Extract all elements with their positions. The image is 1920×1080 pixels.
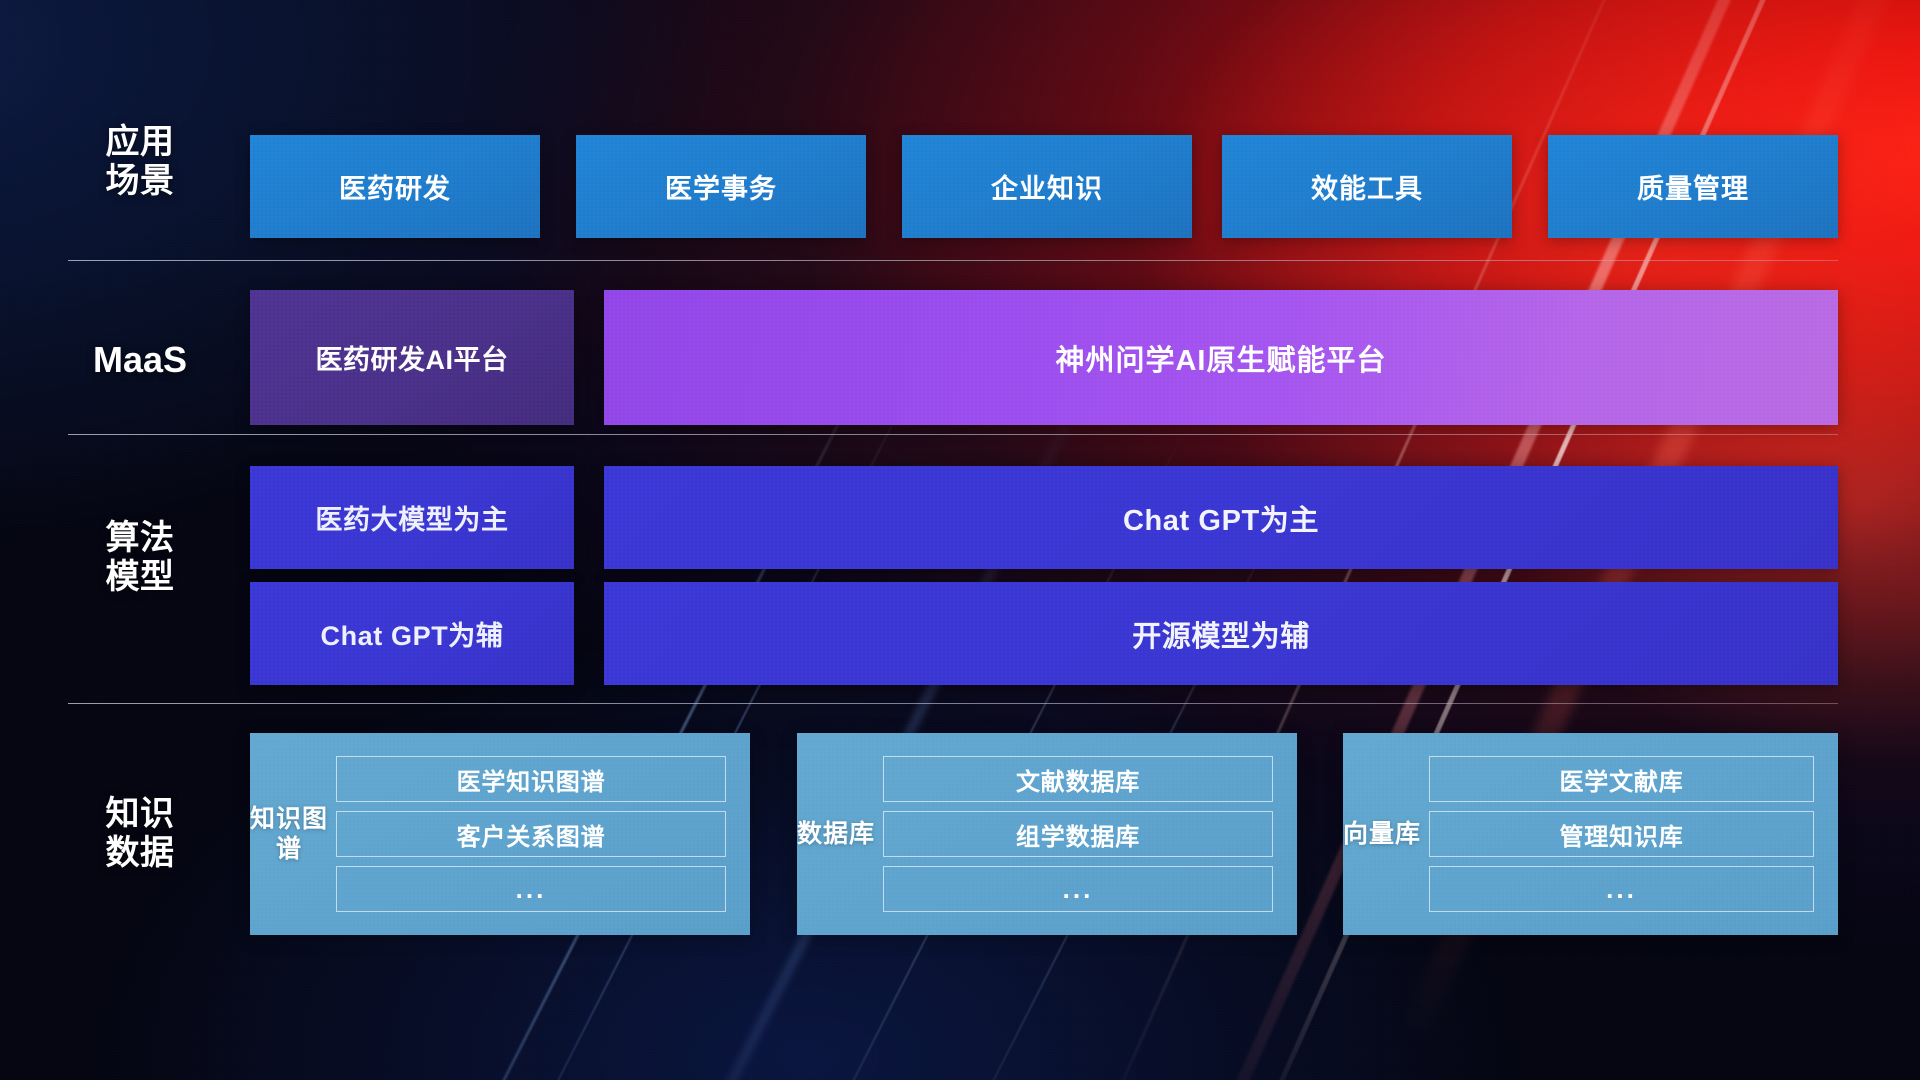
app-card-0[interactable]: 医药研发 bbox=[250, 135, 540, 238]
row-label-algorithm: 算法 模型 bbox=[60, 519, 220, 598]
knowledge-item[interactable]: 医学知识图谱 bbox=[336, 756, 726, 802]
knowledge-block-database[interactable]: 数据库 文献数据库 组学数据库 ... bbox=[797, 733, 1297, 935]
app-card-label: 效能工具 bbox=[1311, 167, 1423, 206]
maas-platform-label: 医药研发AI平台 bbox=[316, 338, 509, 377]
algorithm-card-label: Chat GPT为辅 bbox=[320, 614, 503, 653]
algorithm-card-label: Chat GPT为主 bbox=[1123, 497, 1319, 539]
algorithm-card-primary-general[interactable]: Chat GPT为主 bbox=[604, 466, 1838, 569]
knowledge-block-title: 数据库 bbox=[797, 819, 875, 850]
row-label-maas: MaaS bbox=[60, 339, 220, 381]
knowledge-item-more[interactable]: ... bbox=[1429, 866, 1814, 912]
app-card-label: 企业知识 bbox=[991, 167, 1103, 206]
app-card-1[interactable]: 医学事务 bbox=[576, 135, 866, 238]
knowledge-item-list: 文献数据库 组学数据库 ... bbox=[875, 744, 1297, 924]
knowledge-item[interactable]: 管理知识库 bbox=[1429, 811, 1814, 857]
knowledge-item[interactable]: 组学数据库 bbox=[883, 811, 1273, 857]
divider-algorithm-knowledge bbox=[68, 703, 1838, 704]
app-card-label: 医药研发 bbox=[339, 167, 451, 206]
row-label-knowledge: 知识 数据 bbox=[60, 795, 220, 874]
knowledge-item-list: 医学知识图谱 客户关系图谱 ... bbox=[328, 744, 750, 924]
knowledge-item[interactable]: 文献数据库 bbox=[883, 756, 1273, 802]
knowledge-item-more[interactable]: ... bbox=[336, 866, 726, 912]
knowledge-block-graph[interactable]: 知识图谱 医学知识图谱 客户关系图谱 ... bbox=[250, 733, 750, 935]
app-card-4[interactable]: 质量管理 bbox=[1548, 135, 1838, 238]
knowledge-item[interactable]: 医学文献库 bbox=[1429, 756, 1814, 802]
row-label-application: 应用 场景 bbox=[60, 123, 220, 202]
maas-platform-card[interactable]: 医药研发AI平台 bbox=[250, 290, 574, 425]
app-card-label: 医学事务 bbox=[665, 167, 777, 206]
algorithm-card-label: 医药大模型为主 bbox=[315, 498, 508, 537]
algorithm-card-secondary-general[interactable]: 开源模型为辅 bbox=[604, 582, 1838, 685]
architecture-diagram: 应用 场景 医药研发 医学事务 企业知识 效能工具 质量管理 MaaS 医药研发… bbox=[0, 0, 1920, 1080]
divider-maas-algorithm bbox=[68, 434, 1838, 435]
app-card-2[interactable]: 企业知识 bbox=[902, 135, 1192, 238]
app-card-label: 质量管理 bbox=[1637, 167, 1749, 206]
knowledge-item-list: 医学文献库 管理知识库 ... bbox=[1421, 744, 1838, 924]
app-card-3[interactable]: 效能工具 bbox=[1222, 135, 1512, 238]
divider-application-maas bbox=[68, 260, 1838, 261]
knowledge-item[interactable]: 客户关系图谱 bbox=[336, 811, 726, 857]
knowledge-item-more[interactable]: ... bbox=[883, 866, 1273, 912]
knowledge-block-title: 知识图谱 bbox=[250, 804, 328, 865]
maas-enablement-card[interactable]: 神州问学AI原生赋能平台 bbox=[604, 290, 1838, 425]
algorithm-card-label: 开源模型为辅 bbox=[1132, 613, 1310, 655]
knowledge-block-title: 向量库 bbox=[1343, 819, 1421, 850]
algorithm-card-secondary-domain[interactable]: Chat GPT为辅 bbox=[250, 582, 574, 685]
algorithm-card-primary-domain[interactable]: 医药大模型为主 bbox=[250, 466, 574, 569]
maas-enablement-label: 神州问学AI原生赋能平台 bbox=[1055, 337, 1386, 379]
knowledge-block-vector[interactable]: 向量库 医学文献库 管理知识库 ... bbox=[1343, 733, 1838, 935]
